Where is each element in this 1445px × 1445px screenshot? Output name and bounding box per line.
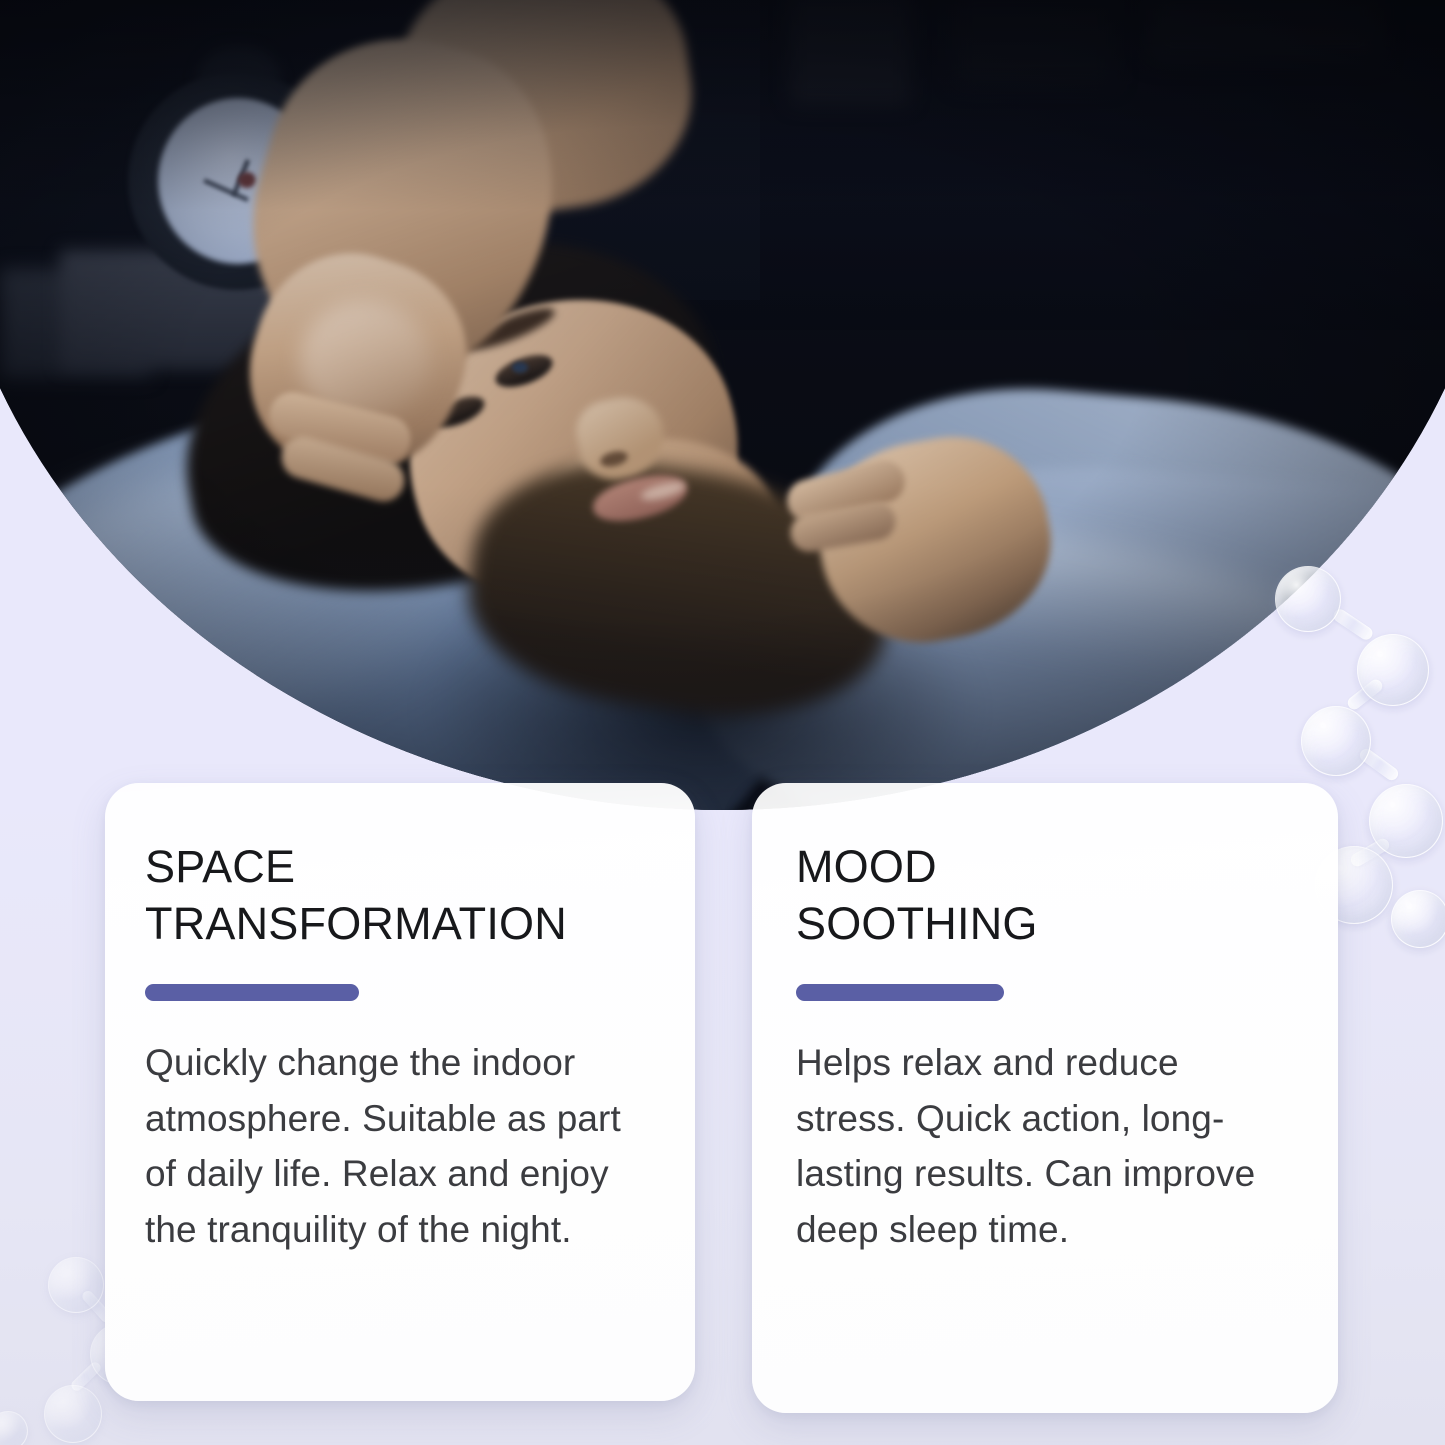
feature-card-space-transformation[interactable]: SPACE TRANSFORMATION Quickly change the …: [105, 783, 695, 1401]
molecule-sphere: [0, 1411, 28, 1445]
background-object-2: [955, 0, 1115, 85]
background-object-3: [1150, 0, 1380, 60]
molecule-bond: [69, 1360, 103, 1393]
molecule-sphere: [44, 1385, 102, 1443]
feature-card-mood-soothing[interactable]: MOOD SOOTHING Helps relax and reduce str…: [752, 783, 1338, 1413]
card-body-text: Helps relax and reduce stress. Quick act…: [796, 1035, 1298, 1257]
clock-center-pin: [238, 172, 256, 188]
hero-photo: [0, 0, 1445, 810]
card-body-text: Quickly change the indoor atmosphere. Su…: [145, 1035, 649, 1257]
hero-image-region: [0, 0, 1445, 810]
accent-underline-bar: [796, 984, 1004, 1001]
card-content: SPACE TRANSFORMATION Quickly change the …: [105, 783, 695, 1257]
accent-underline-bar: [145, 984, 359, 1001]
circular-photo-mask: [0, 0, 1445, 810]
background-object-1: [790, 0, 910, 105]
card-title: MOOD SOOTHING: [796, 839, 1298, 952]
eye-highlight: [512, 362, 528, 373]
bedroom-night-scene: [0, 0, 1445, 810]
card-title: SPACE TRANSFORMATION: [145, 839, 649, 952]
product-feature-graphic: SPACE TRANSFORMATION Quickly change the …: [0, 0, 1445, 1445]
molecule-sphere: [1391, 890, 1445, 948]
card-content: MOOD SOOTHING Helps relax and reduce str…: [752, 783, 1338, 1257]
molecule-sphere: [48, 1257, 104, 1313]
molecule-bond: [1349, 836, 1392, 868]
